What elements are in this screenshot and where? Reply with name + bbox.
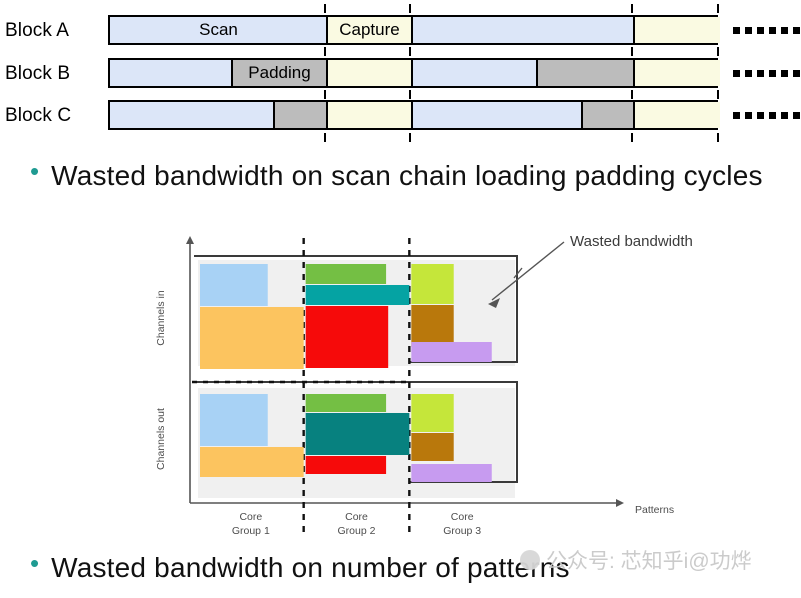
bullet-marker-icon: •	[30, 156, 39, 186]
guide-tick	[324, 47, 326, 56]
guide-tick	[717, 90, 719, 99]
timing-segment: Padding	[232, 60, 327, 86]
continuation-dot	[769, 112, 776, 119]
timing-segment-divider	[231, 60, 233, 86]
continuation-dot	[757, 70, 764, 77]
continuation-dot	[745, 112, 752, 119]
bullet-item-1: • Wasted bandwidth on scan chain loading…	[30, 156, 770, 196]
timing-segment	[327, 102, 412, 128]
timing-segment-divider	[411, 102, 413, 128]
timing-segment	[327, 60, 412, 86]
timing-segment-label: Capture	[327, 17, 412, 43]
continuation-dot	[793, 70, 800, 77]
bullet-text-2: Wasted bandwidth on number of patterns	[51, 548, 570, 588]
bar-channels-in	[306, 285, 410, 305]
timing-segment	[634, 102, 720, 128]
timing-segment	[412, 60, 537, 86]
x-category-label: Group 3	[443, 525, 481, 537]
timing-segment-divider	[326, 60, 328, 86]
continuation-dot	[793, 27, 800, 34]
timing-segment	[110, 102, 274, 128]
continuation-dots-c	[733, 100, 800, 130]
bullet-text-1: Wasted bandwidth on scan chain loading p…	[51, 156, 763, 196]
continuation-dot	[733, 27, 740, 34]
bar-channels-out	[200, 394, 268, 446]
bar-channels-out	[306, 413, 410, 455]
timing-segment	[537, 60, 634, 86]
bar-channels-in	[411, 305, 453, 347]
timing-segment-divider	[633, 102, 635, 128]
bar-channels-out	[411, 464, 491, 482]
y-axis-label-in: Channels in	[155, 290, 167, 346]
chart-svg: Channels inChannels outCoreGroup 1CoreGr…	[150, 228, 790, 540]
watermark: 公众号: 芯知乎i@功烨	[520, 543, 800, 577]
bullet-marker-icon: •	[30, 548, 39, 578]
block-row-c	[108, 100, 718, 130]
timing-segment	[110, 60, 232, 86]
bar-channels-in	[411, 342, 491, 362]
bar-channels-out	[200, 447, 304, 477]
continuation-dot	[757, 27, 764, 34]
bar-channels-out	[306, 456, 386, 474]
block-label-a: Block A	[5, 18, 101, 44]
y-axis-arrow	[186, 236, 194, 244]
timing-segment	[582, 102, 634, 128]
timing-segment	[274, 102, 327, 128]
timing-segment-label: Scan	[110, 17, 327, 43]
continuation-dots-a	[733, 15, 800, 45]
continuation-dot	[781, 70, 788, 77]
bar-channels-in	[200, 307, 304, 369]
timing-segment-divider	[326, 102, 328, 128]
continuation-dot	[733, 70, 740, 77]
guide-tick	[717, 133, 719, 142]
continuation-dot	[793, 112, 800, 119]
bar-channels-in	[306, 264, 386, 284]
x-axis-title: Patterns	[635, 504, 674, 516]
x-category-label: Group 2	[338, 525, 376, 537]
x-category-label: Group 1	[232, 525, 270, 537]
bandwidth-chart: Channels inChannels outCoreGroup 1CoreGr…	[150, 228, 790, 540]
continuation-dot	[781, 112, 788, 119]
guide-tick	[324, 133, 326, 142]
guide-tick	[409, 47, 411, 56]
guide-tick	[409, 4, 411, 13]
bar-channels-out	[411, 394, 453, 432]
timing-segment: Scan	[110, 17, 327, 43]
guide-tick	[631, 47, 633, 56]
wechat-badge-icon	[520, 550, 540, 570]
bar-channels-out	[411, 433, 453, 461]
guide-tick	[717, 4, 719, 13]
bar-channels-in	[411, 264, 453, 304]
timing-segment-divider	[326, 17, 328, 43]
timing-segment-divider	[411, 60, 413, 86]
bar-channels-in	[306, 306, 389, 368]
timing-segment-divider	[581, 102, 583, 128]
timing-diagram: Block A Block B Block C ScanCapture Padd…	[0, 0, 801, 142]
x-category-label: Core	[239, 511, 262, 523]
bar-channels-in	[200, 264, 268, 306]
timing-segment	[412, 102, 582, 128]
continuation-dot	[733, 112, 740, 119]
x-category-label: Core	[451, 511, 474, 523]
continuation-dot	[769, 70, 776, 77]
block-label-c: Block C	[5, 103, 101, 129]
guide-tick	[324, 4, 326, 13]
timing-segment-divider	[633, 17, 635, 43]
guide-tick	[631, 4, 633, 13]
guide-tick	[631, 90, 633, 99]
continuation-dot	[745, 70, 752, 77]
y-axis-label-out: Channels out	[155, 408, 167, 470]
timing-segment-divider	[273, 102, 275, 128]
block-row-a: ScanCapture	[108, 15, 718, 45]
timing-segment	[634, 17, 720, 43]
timing-segment-divider	[633, 60, 635, 86]
continuation-dot	[769, 27, 776, 34]
bar-channels-out	[306, 394, 386, 412]
annotation-label: Wasted bandwidth	[570, 233, 693, 250]
continuation-dot	[757, 112, 764, 119]
timing-segment: Capture	[327, 17, 412, 43]
block-row-b: Padding	[108, 58, 718, 88]
x-axis-arrow	[616, 499, 624, 507]
guide-tick	[409, 133, 411, 142]
block-label-b: Block B	[5, 61, 101, 87]
guide-tick	[324, 90, 326, 99]
guide-tick	[409, 90, 411, 99]
watermark-text: 公众号: 芯知乎i@功烨	[546, 545, 752, 575]
continuation-dot	[745, 27, 752, 34]
timing-segment-divider	[411, 17, 413, 43]
timing-segment	[412, 17, 634, 43]
timing-segment	[634, 60, 720, 86]
continuation-dot	[781, 27, 788, 34]
guide-tick	[717, 47, 719, 56]
continuation-dots-b	[733, 58, 800, 88]
x-category-label: Core	[345, 511, 368, 523]
timing-segment-divider	[536, 60, 538, 86]
guide-tick	[631, 133, 633, 142]
timing-segment-label: Padding	[232, 60, 327, 86]
